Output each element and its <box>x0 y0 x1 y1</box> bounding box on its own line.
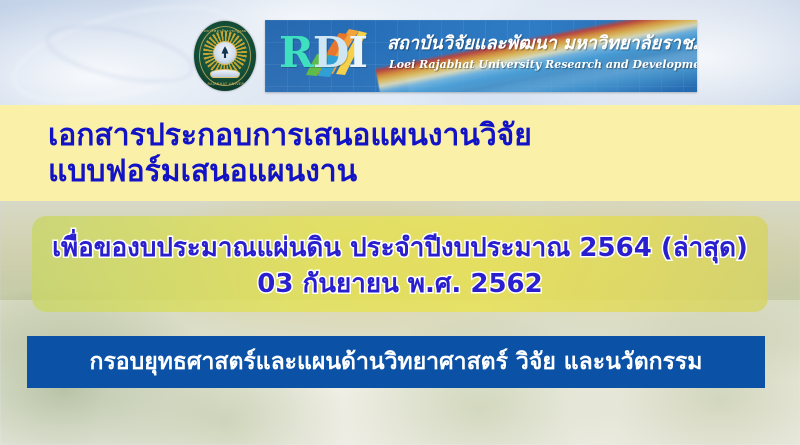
seal-pedestal <box>210 69 240 78</box>
seal-text-bottom: LOEI RAJABHAT UNIVERSITY <box>194 82 256 86</box>
university-seal-icon: มหาวิทยาลัยราชภัฏเลย LOEI RAJABHAT UNIVE… <box>194 21 256 91</box>
title-band: เอกสารประกอบการเสนอแผนงานวิจัย แบบฟอร์มเ… <box>0 105 800 201</box>
footer-band: กรอบยุทธศาสตร์และแผนด้านวิทยาศาสตร์ วิจั… <box>27 336 765 388</box>
subtitle-line-1: เพื่อของบประมาณแผ่นดิน ประจำปีงบประมาณ 2… <box>32 232 768 264</box>
footer-text: กรอบยุทธศาสตร์และแผนด้านวิทยาศาสตร์ วิจั… <box>27 347 765 377</box>
banner-english-title: Loei Rajabhat University Research and De… <box>389 58 697 72</box>
rdi-institute-banner: RDI สถาบันวิจัยและพัฒนา มหาวิทยาลัยราชภั… <box>265 20 697 92</box>
title-line-2: แบบฟอร์มเสนอแผนงาน <box>48 155 357 189</box>
banner-thai-title: สถาบันวิจัยและพัฒนา มหาวิทยาลัยราชภัฏเลย <box>387 32 697 56</box>
subtitle-line-2: 03 กันยายน พ.ศ. 2562 <box>32 268 768 300</box>
poster-image: มหาวิทยาลัยราชภัฏเลย LOEI RAJABHAT UNIVE… <box>0 0 800 445</box>
subtitle-band: เพื่อของบประมาณแผ่นดิน ประจำปีงบประมาณ 2… <box>32 216 768 312</box>
rdi-letters: RDI <box>279 28 367 78</box>
rdi-logo: RDI <box>279 26 381 84</box>
title-line-1: เอกสารประกอบการเสนอแผนงานวิจัย <box>48 119 532 153</box>
